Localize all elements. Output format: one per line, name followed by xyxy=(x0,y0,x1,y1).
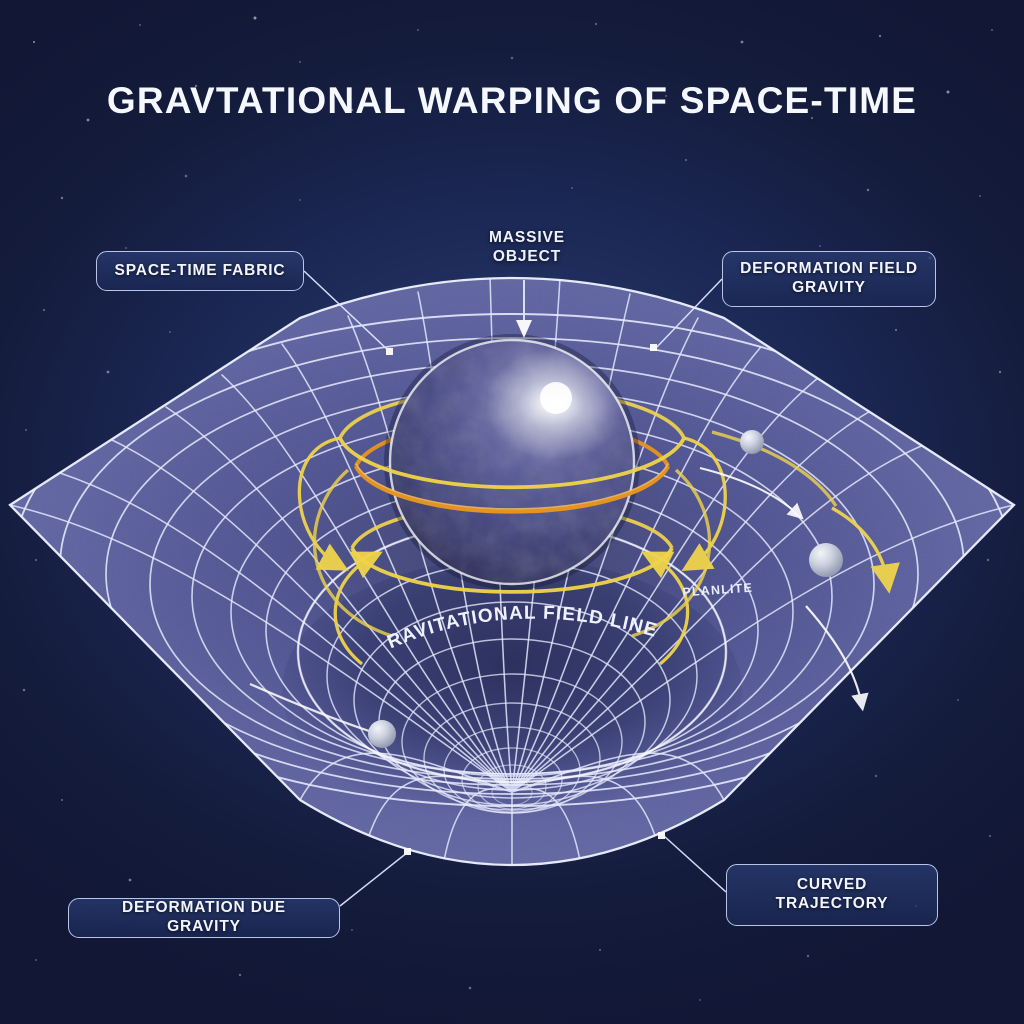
leader-endpoint-fabric xyxy=(386,348,393,355)
leader-endpoint-deformation-field xyxy=(650,344,657,351)
label-curved-trajectory[interactable]: CURVED TRAJECTORY xyxy=(726,864,938,926)
leader-curved-trajectory xyxy=(664,836,726,892)
leader-endpoint-curved-trajectory xyxy=(658,832,665,839)
orbiting-planet-right xyxy=(809,543,843,577)
orbiting-planet-upper-right xyxy=(740,430,764,454)
leader-deformation-due xyxy=(340,852,408,906)
orbiting-planet-lower-left xyxy=(368,720,396,748)
label-deformation-field-gravity[interactable]: DEFORMATION FIELD GRAVITY xyxy=(722,251,936,307)
label-massive-object: MASSIVE OBJECT xyxy=(452,229,602,266)
label-deformation-due-gravity[interactable]: DEFORMATION DUE GRAVITY xyxy=(68,898,340,938)
leader-endpoint-deformation-due xyxy=(404,848,411,855)
diagram-canvas: GRAVITATIONAL FIELD LINES PLANLITE GRAVT… xyxy=(0,0,1024,1024)
label-space-time-fabric[interactable]: SPACE-TIME FABRIC xyxy=(96,251,304,291)
page-title: GRAVTATIONAL WARPING OF SPACE-TIME xyxy=(107,80,917,121)
